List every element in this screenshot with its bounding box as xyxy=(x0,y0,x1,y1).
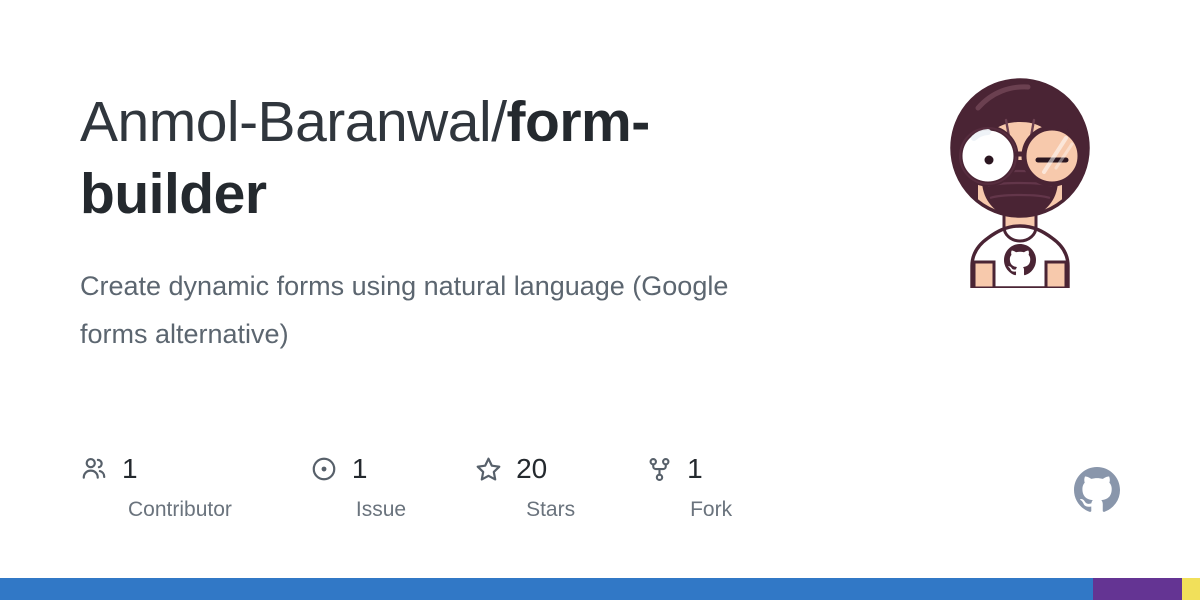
stat-stars-label: Stars xyxy=(526,498,575,522)
repo-stats: 1 Contributor 1 Issue xyxy=(80,452,732,522)
stat-contributors[interactable]: 1 Contributor xyxy=(80,452,232,522)
language-segment-purple xyxy=(1093,578,1182,600)
language-bar xyxy=(0,578,1200,600)
repo-forked-icon xyxy=(645,455,673,483)
stat-stars-count: 20 xyxy=(516,454,547,484)
star-icon xyxy=(474,455,502,483)
stat-issues[interactable]: 1 Issue xyxy=(310,452,406,522)
stat-forks-count: 1 xyxy=(687,454,703,484)
title-block: Anmol-Baranwal/form-builder xyxy=(80,86,780,230)
github-octocat-icon xyxy=(1074,467,1120,513)
repo-separator: / xyxy=(491,90,506,154)
stat-issues-count: 1 xyxy=(352,454,368,484)
stat-contributors-count: 1 xyxy=(122,454,138,484)
repo-description: Create dynamic forms using natural langu… xyxy=(80,262,800,358)
repo-owner[interactable]: Anmol-Baranwal xyxy=(80,90,491,154)
stat-contributors-label: Contributor xyxy=(128,498,232,522)
stat-forks[interactable]: 1 Fork xyxy=(645,452,732,522)
stat-stars[interactable]: 20 Stars xyxy=(474,452,575,522)
stat-stars-top: 20 xyxy=(474,452,547,486)
stat-contributors-top: 1 xyxy=(80,452,138,486)
stat-forks-label: Fork xyxy=(690,498,732,522)
language-segment-yellow xyxy=(1182,578,1200,600)
page-title: Anmol-Baranwal/form-builder xyxy=(80,86,780,230)
stat-issues-top: 1 xyxy=(310,452,368,486)
stat-forks-top: 1 xyxy=(645,452,703,486)
user-avatar-illustration xyxy=(944,76,1096,288)
language-segment-blue xyxy=(0,578,1093,600)
people-icon xyxy=(80,455,108,483)
repo-social-preview-card: Anmol-Baranwal/form-builder Create dynam… xyxy=(0,0,1200,600)
stat-issues-label: Issue xyxy=(356,498,406,522)
issue-opened-icon xyxy=(310,455,338,483)
